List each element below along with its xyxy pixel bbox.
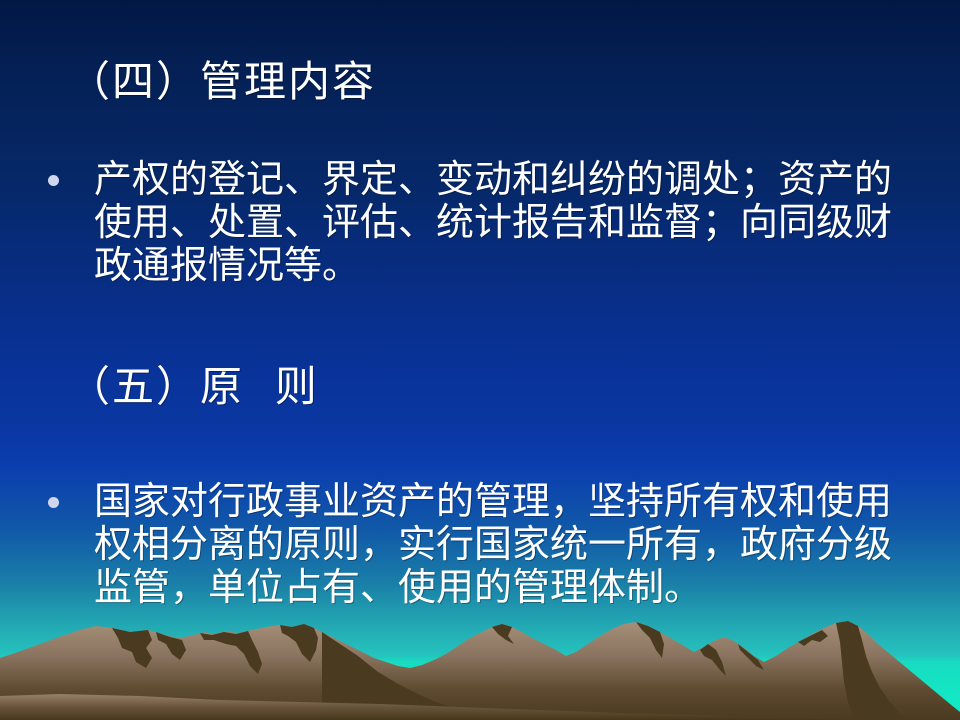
bullet-2-line-1: 国家对行政事业资产的管理，坚持所有权和使用 xyxy=(94,480,908,523)
section-heading-four: （四）管理内容 xyxy=(68,58,376,106)
bullet-1-line-1: 产权的登记、界定、变动和纠纷的调处；资产的 xyxy=(94,158,908,201)
bullet-item-1-text: 产权的登记、界定、变动和纠纷的调处；资产的 使用、处置、评估、统计报告和监督；向… xyxy=(59,158,908,287)
bullet-dot-icon xyxy=(48,497,59,508)
bullet-2-line-3: 监管，单位占有、使用的管理体制。 xyxy=(94,566,908,609)
slide-text-layer: （四）管理内容 产权的登记、界定、变动和纠纷的调处；资产的 使用、处置、评估、统… xyxy=(0,0,960,720)
bullet-item-2: 国家对行政事业资产的管理，坚持所有权和使用 权相分离的原则，实行国家统一所有，政… xyxy=(48,480,908,609)
section-heading-five: （五）原 则 xyxy=(68,363,319,411)
presentation-slide: （四）管理内容 产权的登记、界定、变动和纠纷的调处；资产的 使用、处置、评估、统… xyxy=(0,0,960,720)
bullet-1-line-3: 政通报情况等。 xyxy=(94,244,908,287)
bullet-dot-icon xyxy=(48,175,59,186)
bullet-item-2-text: 国家对行政事业资产的管理，坚持所有权和使用 权相分离的原则，实行国家统一所有，政… xyxy=(59,480,908,609)
bullet-1-line-2: 使用、处置、评估、统计报告和监督；向同级财 xyxy=(94,201,908,244)
bullet-item-1: 产权的登记、界定、变动和纠纷的调处；资产的 使用、处置、评估、统计报告和监督；向… xyxy=(48,158,908,287)
bullet-2-line-2: 权相分离的原则，实行国家统一所有，政府分级 xyxy=(94,523,908,566)
